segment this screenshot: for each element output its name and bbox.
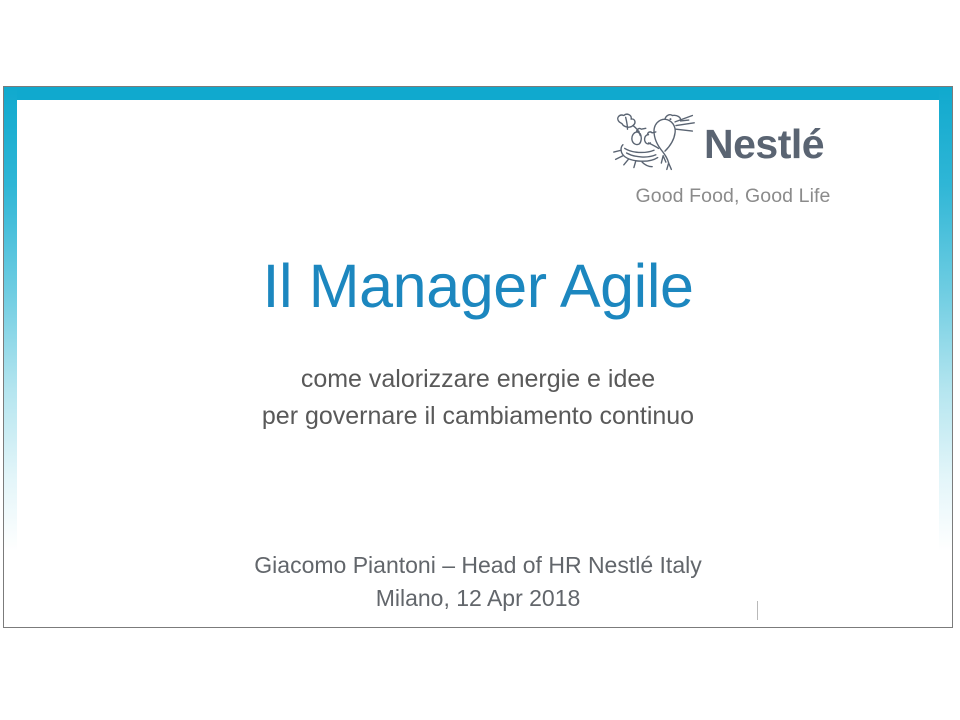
nestle-bird-nest-icon: [608, 110, 700, 174]
slide-accent-bar-left: [4, 87, 17, 627]
slide-title[interactable]: Il Manager Agile: [4, 254, 952, 318]
presenter-location-date: Milano, 12 Apr 2018: [4, 582, 952, 615]
slide-viewer: Nestlé Good Food, Good Life Il Manager A…: [0, 0, 960, 720]
logo-row: Nestlé: [608, 109, 858, 175]
nestle-tagline: Good Food, Good Life: [608, 185, 858, 208]
subtitle-line-2: per governare il cambiamento continuo: [4, 398, 952, 435]
nestle-wordmark: Nestlé: [704, 124, 824, 165]
nestle-logo: Nestlé Good Food, Good Life: [608, 109, 858, 208]
slide-accent-bar-top: [4, 87, 952, 100]
subtitle-line-1: come valorizzare energie e idee: [4, 361, 952, 398]
presenter-name-role: Giacomo Piantoni – Head of HR Nestlé Ita…: [4, 549, 952, 582]
text-caret: [757, 601, 758, 620]
presentation-slide[interactable]: Nestlé Good Food, Good Life Il Manager A…: [3, 86, 953, 628]
slide-accent-bar-right: [939, 87, 952, 627]
presenter-info[interactable]: Giacomo Piantoni – Head of HR Nestlé Ita…: [4, 549, 952, 616]
slide-subtitle[interactable]: come valorizzare energie e idee per gove…: [4, 361, 952, 434]
